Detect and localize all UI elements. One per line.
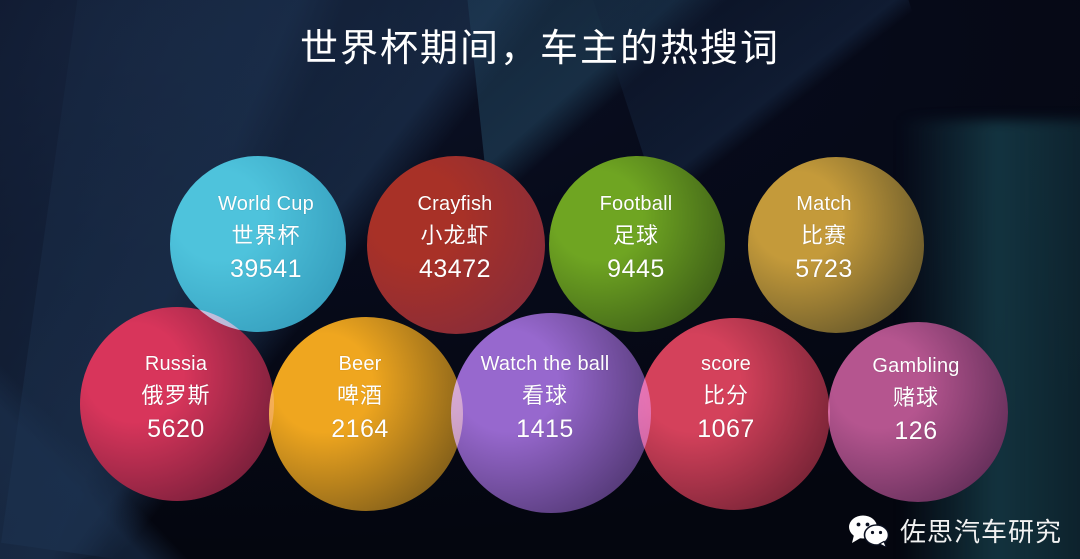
bubble-label-cn: 俄罗斯 (141, 385, 210, 407)
bubble-label-value: 9445 (600, 257, 673, 282)
watermark: 佐思汽车研究 (848, 512, 1062, 549)
bubble-label-layer: World Cup世界杯39541Crayfish小龙虾43472Footbal… (0, 0, 1080, 559)
watermark-text: 佐思汽车研究 (900, 512, 1062, 549)
bubble-label-en: Beer (331, 354, 389, 374)
bubble-label-en: score (697, 354, 755, 374)
bubble-label-cn: 比分 (697, 385, 755, 407)
bubble-label-cn: 小龙虾 (418, 225, 493, 247)
bubble-label-cn: 足球 (600, 225, 673, 247)
bubble-label-cn: 比赛 (795, 225, 853, 247)
bubble-label-watch-the-ball: Watch the ball看球1415 (481, 354, 610, 442)
slide-canvas: 世界杯期间，车主的热搜词 World Cup世界杯39541Crayfish小龙… (0, 0, 1080, 559)
bubble-label-en: Football (600, 194, 673, 214)
bubble-label-en: Match (795, 194, 853, 214)
bubble-label-value: 39541 (218, 257, 314, 282)
bubble-label-en: Crayfish (418, 194, 493, 214)
bubble-label-value: 1067 (697, 417, 755, 442)
bubble-label-value: 43472 (418, 257, 493, 282)
bubble-label-russia: Russia俄罗斯5620 (141, 354, 210, 442)
bubble-label-gambling: Gambling赌球126 (872, 356, 959, 444)
page-title: 世界杯期间，车主的热搜词 (0, 17, 1080, 72)
bubble-label-score: score比分1067 (697, 354, 755, 442)
bubble-label-value: 5620 (141, 417, 210, 442)
bubble-label-cn: 世界杯 (218, 225, 314, 247)
bubble-label-crayfish: Crayfish小龙虾43472 (418, 194, 493, 282)
bubble-label-value: 2164 (331, 417, 389, 442)
bubble-label-en: Russia (141, 354, 210, 374)
wechat-icon (848, 515, 890, 547)
bubble-label-en: Gambling (872, 356, 959, 376)
bubble-label-value: 5723 (795, 257, 853, 282)
bubble-label-match: Match比赛5723 (795, 194, 853, 282)
bubble-label-cn: 啤酒 (331, 385, 389, 407)
bubble-label-value: 1415 (481, 417, 610, 442)
bubble-label-beer: Beer啤酒2164 (331, 354, 389, 442)
bubble-label-en: Watch the ball (481, 354, 610, 374)
bubble-label-football: Football足球9445 (600, 194, 673, 282)
bubble-label-cn: 看球 (481, 385, 610, 407)
bubble-label-cn: 赌球 (872, 387, 959, 409)
bubble-label-world-cup: World Cup世界杯39541 (218, 194, 314, 282)
bubble-label-value: 126 (872, 419, 959, 444)
bubble-label-en: World Cup (218, 194, 314, 214)
